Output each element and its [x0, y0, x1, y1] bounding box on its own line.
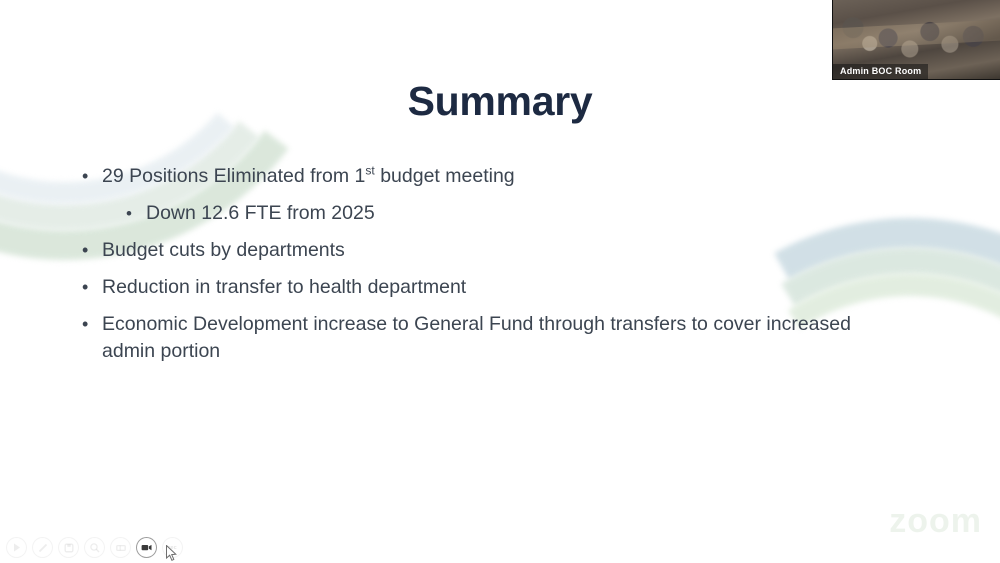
- bullet-marker-icon: •: [126, 200, 146, 227]
- pointer-icon[interactable]: [6, 537, 27, 558]
- bullet-text: Reduction in transfer to health departme…: [102, 274, 466, 301]
- bullet-item: • Budget cuts by departments: [82, 237, 897, 264]
- bullet-marker-icon: •: [82, 311, 102, 338]
- slide-bullet-list: • 29 Positions Eliminated from 1st budge…: [82, 163, 897, 375]
- bullet-text: Economic Development increase to General…: [102, 311, 897, 365]
- participant-name-label: Admin BOC Room: [833, 64, 928, 79]
- mouse-cursor: [166, 545, 178, 563]
- bullet-item-sub: • Down 12.6 FTE from 2025: [126, 200, 897, 227]
- stamp-icon[interactable]: [58, 537, 79, 558]
- annotation-toolbar[interactable]: rec: [6, 537, 183, 558]
- pen-icon[interactable]: [32, 537, 53, 558]
- video-camera-icon[interactable]: [136, 537, 157, 558]
- bullet-text: Down 12.6 FTE from 2025: [146, 200, 375, 227]
- eraser-icon[interactable]: [110, 537, 131, 558]
- bullet-text: 29 Positions Eliminated from 1st budget …: [102, 163, 515, 190]
- bullet-item: • Reduction in transfer to health depart…: [82, 274, 897, 301]
- zoom-screen-share-window: Summary • 29 Positions Eliminated from 1…: [0, 0, 1000, 563]
- bullet-item: • 29 Positions Eliminated from 1st budge…: [82, 163, 897, 190]
- spotlight-icon[interactable]: [84, 537, 105, 558]
- presentation-slide: Summary • 29 Positions Eliminated from 1…: [0, 0, 1000, 563]
- bullet-text-after: budget meeting: [375, 165, 515, 187]
- bullet-superscript: st: [365, 164, 374, 178]
- bullet-marker-icon: •: [82, 163, 102, 190]
- bullet-marker-icon: •: [82, 237, 102, 264]
- participant-video-tile[interactable]: Admin BOC Room: [832, 0, 1000, 80]
- bullet-item: • Economic Development increase to Gener…: [82, 311, 897, 365]
- zoom-watermark: zoom: [889, 502, 982, 541]
- bullet-text-before: 29 Positions Eliminated from 1: [102, 165, 365, 187]
- bullet-marker-icon: •: [82, 274, 102, 301]
- slide-title: Summary: [0, 78, 1000, 125]
- bullet-text: Budget cuts by departments: [102, 237, 345, 264]
